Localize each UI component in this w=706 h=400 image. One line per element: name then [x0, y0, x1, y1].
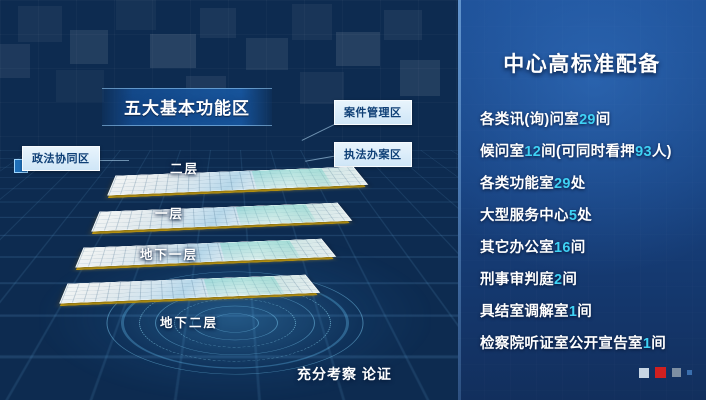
- item-text: 大型服务中心: [480, 208, 569, 224]
- panel-item-list: 各类讯(询)问室29间候问室12间(可同时看押93人)各类功能室29处大型服务中…: [480, 104, 706, 360]
- indicator-dot-red: [655, 367, 666, 378]
- item-text: 其它办公室: [480, 240, 554, 256]
- panel-title: 中心高标准配备: [458, 48, 706, 78]
- floor-label-f2: 二层: [170, 158, 199, 177]
- panel-list-item: 刑事审判庭2间: [480, 264, 706, 296]
- panel-list-item: 候问室12间(可同时看押93人): [480, 136, 706, 168]
- indicator-dot-gray: [672, 368, 681, 377]
- item-text: 处: [571, 176, 586, 192]
- zone-tag-zhengfa-xietong[interactable]: 政法协同区: [22, 146, 100, 171]
- item-text: 刑事审判庭: [480, 272, 554, 288]
- section-title-banner: 五大基本功能区: [102, 88, 272, 126]
- item-text: 间: [571, 240, 586, 256]
- item-text: 间: [651, 336, 666, 352]
- item-text: 候问室: [480, 144, 524, 160]
- bottom-caption: 充分考察 论证: [297, 364, 392, 384]
- floor-label-b1: 地下一层: [140, 244, 198, 263]
- indicator-dot-blue: [687, 370, 692, 375]
- panel-list-item: 各类讯(询)问室29间: [480, 104, 706, 136]
- item-number: 29: [579, 112, 596, 128]
- floor-slab-f2: [110, 144, 370, 192]
- indicator-dot-light-gray: [639, 368, 649, 378]
- item-text: 间: [596, 112, 611, 128]
- item-number: 5: [569, 208, 577, 224]
- zone-tag-anjian-guanli[interactable]: 案件管理区: [334, 100, 412, 125]
- item-number: 16: [554, 240, 571, 256]
- indicator-dots: [639, 367, 692, 378]
- item-text: 检察院听证室公开宣告室: [480, 336, 643, 352]
- panel-list-item: 检察院听证室公开宣告室1间: [480, 328, 706, 360]
- item-text: 间: [562, 272, 577, 288]
- scene-3d-building: 二层 一层 地下一层 地下二层 五大基本功能区 政法协同区 案件管理区 执法办案…: [0, 0, 458, 400]
- item-number: 1: [643, 336, 651, 352]
- floor-label-b2: 地下二层: [160, 312, 218, 331]
- item-text: 间(可同时看押: [541, 144, 635, 160]
- item-number: 29: [554, 176, 571, 192]
- item-text: 各类讯(询)问室: [480, 112, 579, 128]
- item-text: 间: [577, 304, 592, 320]
- item-text: 各类功能室: [480, 176, 554, 192]
- item-number: 93: [635, 144, 652, 160]
- item-text: 人): [652, 144, 672, 160]
- item-text: 具结室调解室: [480, 304, 569, 320]
- info-panel: 中心高标准配备 各类讯(询)问室29间候问室12间(可同时看押93人)各类功能室…: [458, 0, 706, 400]
- panel-list-item: 具结室调解室1间: [480, 296, 706, 328]
- item-number: 1: [569, 304, 577, 320]
- floor-label-f1: 一层: [155, 203, 184, 222]
- item-text: 处: [577, 208, 592, 224]
- item-number: 12: [524, 144, 541, 160]
- panel-list-item: 各类功能室29处: [480, 168, 706, 200]
- panel-list-item: 其它办公室16间: [480, 232, 706, 264]
- screenshot-root: 二层 一层 地下一层 地下二层 五大基本功能区 政法协同区 案件管理区 执法办案…: [0, 0, 706, 400]
- panel-list-item: 大型服务中心5处: [480, 200, 706, 232]
